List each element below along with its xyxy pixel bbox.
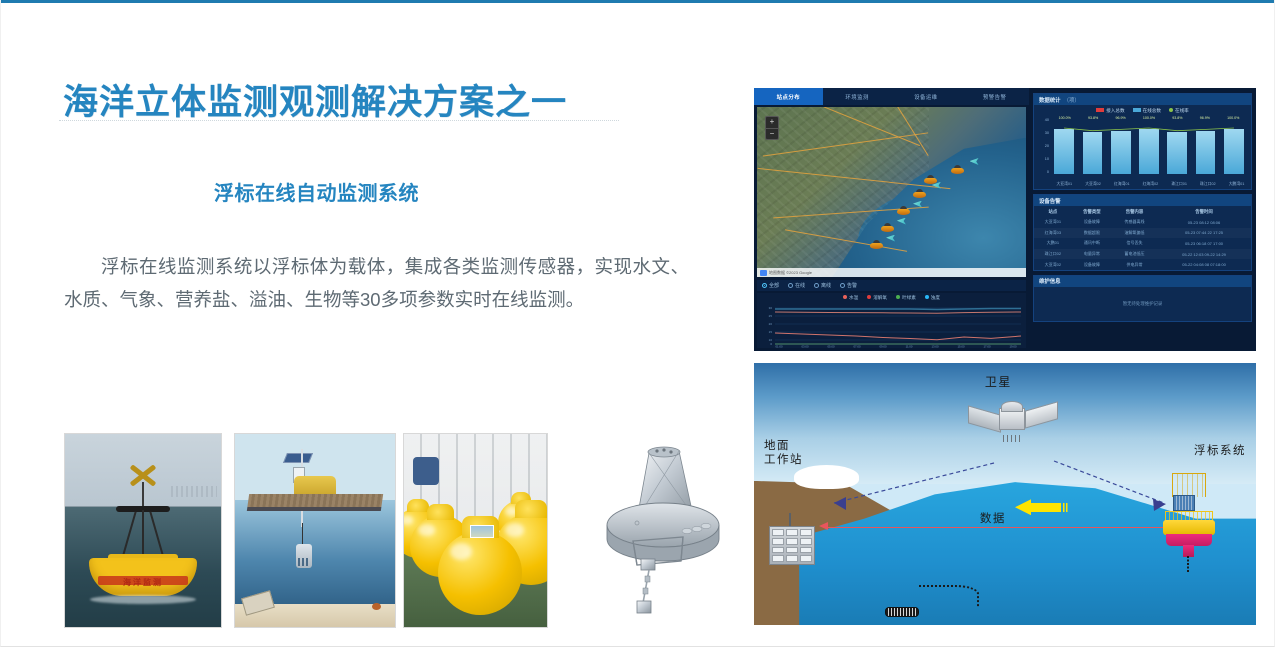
table-row[interactable]: 珠江口02电量异常蓄电池低压05-22 12:03 09-22 14:29 [1034, 249, 1251, 260]
window [800, 547, 812, 554]
map-buoy-marker[interactable] [870, 240, 883, 249]
buoy-solar-panel [1173, 495, 1196, 511]
window [786, 529, 798, 536]
map-filter-online[interactable]: 在线 [788, 282, 805, 289]
table-cell: 通讯中断 [1072, 238, 1112, 249]
legend-dot-icon [867, 295, 871, 299]
buoy-tower [1172, 473, 1207, 497]
marker-base [897, 209, 910, 215]
satellite-solar-wing-left [968, 406, 1001, 433]
table-cell: 大亚湾02 [1034, 259, 1072, 270]
table-cell: 珠江口02 [1034, 249, 1072, 260]
body-paragraph: 浮标在线监测系统以浮标体为载体，集成各类监测传感器，实现水文、水质、气象、营养盐… [64, 250, 689, 316]
map-filter-label: 离线 [821, 282, 831, 289]
bar-column [1167, 118, 1187, 174]
alarm-panel-header: 设备告警 [1034, 195, 1251, 206]
current-direction-arrow [1015, 499, 1061, 515]
bar [1167, 132, 1187, 174]
radio-icon[interactable] [814, 283, 819, 288]
table-row[interactable]: 大亚湾01设备故障传感器离线05-23 08:12 08:06 [1034, 217, 1251, 228]
radio-icon[interactable] [840, 283, 845, 288]
table-row[interactable]: 红海湾03数据超限溶解氧偏低05-23 07:44 22 17:25 [1034, 228, 1251, 239]
underwater-sensor [296, 544, 312, 568]
map-filter-offline[interactable]: 离线 [814, 282, 831, 289]
sea-foam [90, 595, 196, 604]
label-line-2: 工作站 [764, 453, 803, 467]
dashboard-left-pane: 站点分布 环境监测 设备运维 预警告警 + − [754, 88, 1029, 351]
sensor-cable [302, 523, 303, 546]
x-tick: 大鹏湾01 [1229, 182, 1245, 187]
left-content-column: 海洋立体监测观测解决方案之一 浮标在线自动监测系统 浮标在线监测系统以浮标体为载… [1, 0, 741, 647]
panel-title: 维护信息 [1039, 277, 1061, 285]
window [800, 529, 812, 536]
table-column-header: 站点 [1034, 206, 1072, 217]
marker-base [870, 243, 883, 249]
ground-station-icon [769, 513, 815, 565]
window [800, 555, 812, 562]
buoy-tower-frame [142, 510, 144, 556]
table-cell: 电量异常 [1072, 249, 1112, 260]
bar-column [1139, 118, 1159, 174]
mooring-chain-to-anchor [919, 585, 979, 607]
window [786, 555, 798, 562]
map-filter-alarm[interactable]: 告警 [840, 282, 857, 289]
map-zoom-control[interactable]: + − [765, 116, 779, 140]
bar [1224, 129, 1244, 174]
tab-device-ops[interactable]: 设备运维 [892, 88, 961, 105]
map-filter-label: 告警 [847, 282, 857, 289]
crab-icon [372, 603, 381, 610]
line-chart-legend: 水温 溶解氧 叶绿素 浊度 [757, 293, 1026, 303]
maintenance-panel-header: 维护信息 [1034, 276, 1251, 287]
bar [1196, 131, 1216, 174]
table-cell: 蓄电池低压 [1112, 249, 1157, 260]
table-cell: 供电异常 [1112, 259, 1157, 270]
alarm-table: 站点告警类型告警内容告警时间 大亚湾01设备故障传感器离线05-23 08:12… [1034, 206, 1251, 270]
realtime-line-chart: 水温 溶解氧 叶绿素 浊度 [757, 293, 1026, 348]
bar-chart-plot: 40 30 20 10 0 100.0% 93.8% 96.9% 100.0% … [1034, 116, 1251, 180]
right-media-column: 站点分布 环境监测 设备运维 预警告警 + − [754, 0, 1256, 647]
tab-alerts[interactable]: 预警告警 [960, 88, 1029, 105]
arrow-shaft [1031, 503, 1061, 512]
table-cell: 大亚湾01 [1034, 217, 1072, 228]
label-buoy-system: 浮标系统 [1194, 442, 1246, 458]
bar-column [1054, 118, 1074, 174]
buoy-mast [142, 482, 144, 508]
bar-column [1224, 118, 1244, 174]
panel-title: 设备告警 [1039, 197, 1061, 205]
panel-title: 数据统计 [1039, 96, 1061, 104]
map-attribution-bar: 地图数据 ©2023 Google [757, 268, 1026, 277]
statistics-panel-header: 数据统计 （项） [1034, 94, 1251, 105]
arrow-tail-stripes [1063, 503, 1069, 512]
svg-text:05:00: 05:00 [828, 345, 835, 349]
table-cell: 05-23 06:18 07 17:00 [1157, 238, 1251, 249]
table-cell: 红海湾03 [1034, 228, 1072, 239]
section-subtitle: 浮标在线自动监测系统 [214, 177, 419, 206]
window [772, 529, 784, 536]
platform-deck [247, 494, 384, 511]
bar-chart-bars [1050, 118, 1248, 174]
svg-text:11:00: 11:00 [906, 345, 913, 349]
satellite-map[interactable]: + − [757, 107, 1026, 277]
map-buoy-marker[interactable] [897, 206, 910, 215]
radio-icon[interactable] [788, 283, 793, 288]
line-chart-plot-area: 3025 2015 100 01:0003:00 05:0007:00 [757, 303, 1026, 348]
table-cell: 05-22 12:03 09-22 14:29 [1157, 249, 1251, 260]
bar [1083, 132, 1103, 174]
x-tick: 珠江口01 [1171, 182, 1187, 187]
label-satellite: 卫星 [985, 373, 1012, 390]
table-column-header: 告警时间 [1157, 206, 1251, 217]
bar [1139, 129, 1159, 174]
map-buoy-marker[interactable] [951, 165, 964, 174]
svg-text:07:00: 07:00 [854, 345, 861, 349]
series-water-temp [775, 312, 1021, 313]
bar-chart-legend: 接入总数 在线总数 在线率 [1034, 105, 1251, 116]
satellite-buoy-system-diagram: 卫星 地面 工作站 浮标系统 数据 [754, 363, 1256, 625]
map-filter-controls: 全部 在线 离线 告警 [757, 280, 1026, 291]
x-tick: 红海湾02 [1143, 182, 1159, 187]
svg-text:01:00: 01:00 [776, 345, 783, 349]
window [772, 547, 784, 554]
map-provider-logo-icon [760, 270, 767, 276]
x-tick: 大亚湾01 [1057, 182, 1073, 187]
table-cell: 传感器离线 [1112, 217, 1157, 228]
dashboard-tabbar: 站点分布 环境监测 设备运维 预警告警 [754, 88, 1029, 105]
buoy-keel [1183, 545, 1194, 557]
window [786, 547, 798, 554]
dashboard-right-pane: 数据统计 （项） 接入总数 在线总数 在线率 [1029, 88, 1256, 351]
maintenance-empty-state: 暂无待处理维护记录 [1034, 287, 1251, 321]
legend-item-online: 在线总数 [1133, 108, 1161, 114]
x-tick: 珠江口02 [1200, 182, 1216, 187]
arrow-head [1015, 499, 1031, 515]
legend-item-dissolved-oxygen: 溶解氧 [867, 295, 887, 301]
photo-floating-platform [234, 433, 396, 628]
svg-text:09:00: 09:00 [880, 345, 887, 349]
table-cell: 数据超限 [1072, 228, 1112, 239]
blue-container [413, 457, 439, 485]
legend-item-chlorophyll: 叶绿素 [896, 295, 916, 301]
diagram-wave-foam [794, 465, 859, 489]
y-tick: 40 [1035, 118, 1049, 122]
svg-text:15: 15 [769, 330, 773, 334]
marker-base [913, 192, 926, 198]
buoy-system-icon [1162, 473, 1216, 573]
table-cell: 05-23 07:44 22 17:25 [1157, 228, 1251, 239]
map-filter-all[interactable]: 全部 [762, 282, 779, 289]
bar [1054, 129, 1074, 174]
legend-swatch-icon [1133, 108, 1141, 112]
series-turbidity [775, 309, 1021, 310]
legend-dot-icon [896, 295, 900, 299]
label-line-1: 地面 [764, 439, 803, 453]
buoy-mooring-chain [1187, 556, 1189, 573]
alarm-panel: 设备告警 站点告警类型告警内容告警时间 大亚湾01设备故障传感器离线05-23 … [1033, 194, 1252, 271]
legend-swatch-icon [1096, 108, 1104, 112]
table-cell: 溶解氧偏低 [1112, 228, 1157, 239]
svg-text:15:00: 15:00 [958, 345, 965, 349]
y-tick: 20 [1035, 144, 1049, 148]
map-buoy-marker[interactable] [924, 175, 937, 184]
legend-item-online-rate: 在线率 [1169, 108, 1189, 114]
tab-environment[interactable]: 环境监测 [823, 88, 892, 105]
table-cell: 大鹏01 [1034, 238, 1072, 249]
map-zoom-out-button[interactable]: − [766, 129, 778, 140]
svg-text:03:00: 03:00 [802, 345, 809, 349]
marker-base [924, 178, 937, 184]
bar-column [1196, 118, 1216, 174]
slide-page: 海洋立体监测观测解决方案之一 浮标在线自动监测系统 浮标在线监测系统以浮标体为载… [0, 0, 1275, 647]
buoy-hull-upper [1163, 520, 1215, 535]
title-divider [59, 120, 619, 121]
svg-text:17:00: 17:00 [984, 345, 991, 349]
satellite-solar-wing-right [1025, 401, 1058, 428]
y-tick: 30 [1035, 131, 1049, 135]
legend-item-turbidity: 浊度 [925, 295, 940, 301]
table-cell: 05-23 08:12 08:06 [1157, 217, 1251, 228]
bar-chart-y-axis: 40 30 20 10 0 [1035, 118, 1049, 174]
svg-text:19:00: 19:00 [1010, 345, 1017, 349]
data-transfer-arrowhead [819, 522, 828, 530]
label-ground-station: 地面 工作站 [764, 439, 803, 467]
series-dissolved-oxygen [775, 333, 1021, 340]
legend-item-total: 接入总数 [1096, 108, 1124, 114]
tab-station-map[interactable]: 站点分布 [754, 88, 823, 105]
window [772, 555, 784, 562]
svg-text:30: 30 [769, 306, 773, 310]
bar-column [1083, 118, 1103, 174]
table-cell: 05-22 04:08 08 07:18:00 [1157, 259, 1251, 270]
photo-spherical-buoys [403, 433, 548, 628]
marker-base [951, 168, 964, 174]
cad-canvas [575, 433, 747, 628]
table-row[interactable]: 大鹏01通讯中断信号丢失05-23 06:18 07 17:00 [1034, 238, 1251, 249]
table-cell: 设备故障 [1072, 259, 1112, 270]
solar-panel-icon [283, 453, 313, 463]
maintenance-panel: 维护信息 暂无待处理维护记录 [1033, 275, 1252, 322]
map-filter-label: 在线 [795, 282, 805, 289]
page-title: 海洋立体监测观测解决方案之一 [63, 74, 567, 125]
svg-text:13:00: 13:00 [932, 345, 939, 349]
map-buoy-marker[interactable] [881, 223, 894, 232]
alarm-table-body: 大亚湾01设备故障传感器离线05-23 08:12 08:06红海湾03数据超限… [1034, 217, 1251, 270]
table-cell: 信号丢失 [1112, 238, 1157, 249]
table-row[interactable]: 大亚湾02设备故障供电异常05-22 04:08 08 07:18:00 [1034, 259, 1251, 270]
y-tick: 10 [1035, 157, 1049, 161]
monitoring-dashboard-screenshot: 站点分布 环境监测 设备运维 预警告警 + − [754, 88, 1256, 351]
satellite-antennas [1003, 435, 1024, 442]
legend-dot-icon [1169, 108, 1173, 112]
panel-unit: （项） [1064, 96, 1080, 104]
marker-base [881, 226, 894, 232]
map-filter-label: 全部 [769, 282, 779, 289]
svg-text:0: 0 [770, 342, 772, 346]
x-tick: 红海湾01 [1114, 182, 1130, 187]
satellite-icon [970, 397, 1056, 441]
alarm-table-header-row: 站点告警类型告警内容告警时间 [1034, 206, 1251, 217]
map-attribution-text: 地图数据 ©2023 Google [769, 270, 812, 276]
map-zoom-in-button[interactable]: + [766, 117, 778, 129]
bar [1111, 131, 1131, 174]
label-data: 数据 [980, 510, 1006, 526]
statistics-panel: 数据统计 （项） 接入总数 在线总数 在线率 [1033, 93, 1252, 190]
radio-icon[interactable] [762, 283, 767, 288]
station-windows [769, 526, 815, 564]
svg-text:25: 25 [769, 314, 773, 318]
svg-text:20: 20 [769, 322, 773, 326]
buoy-3d-model-icon [575, 433, 747, 628]
legend-dot-icon [925, 295, 929, 299]
y-tick: 0 [1035, 170, 1049, 174]
photo-buoy-at-sea: 海洋监测 [64, 433, 222, 628]
table-column-header: 告警内容 [1112, 206, 1157, 217]
window [786, 538, 798, 545]
data-transfer-line [824, 527, 1180, 529]
satellite-dish [1001, 401, 1023, 412]
window [772, 538, 784, 545]
table-column-header: 告警类型 [1072, 206, 1112, 217]
legend-item-water-temp: 水温 [843, 295, 858, 301]
map-buoy-marker[interactable] [913, 189, 926, 198]
bar-column [1111, 118, 1131, 174]
seabed-anchor [885, 607, 919, 617]
legend-dot-icon [843, 295, 847, 299]
photo-strip: 海洋监测 [1, 433, 741, 633]
buoy-label-sticker [470, 525, 494, 538]
window [800, 538, 812, 545]
distant-skyline [171, 486, 217, 497]
photo-buoy-cad-model [575, 433, 747, 628]
x-tick: 大亚湾02 [1085, 182, 1101, 187]
buoy-hull-caption: 海洋监测 [123, 577, 163, 588]
bar-chart-x-axis: 大亚湾01大亚湾02红海湾01红海湾02珠江口01珠江口02大鹏湾01 [1034, 180, 1251, 189]
table-cell: 设备故障 [1072, 217, 1112, 228]
